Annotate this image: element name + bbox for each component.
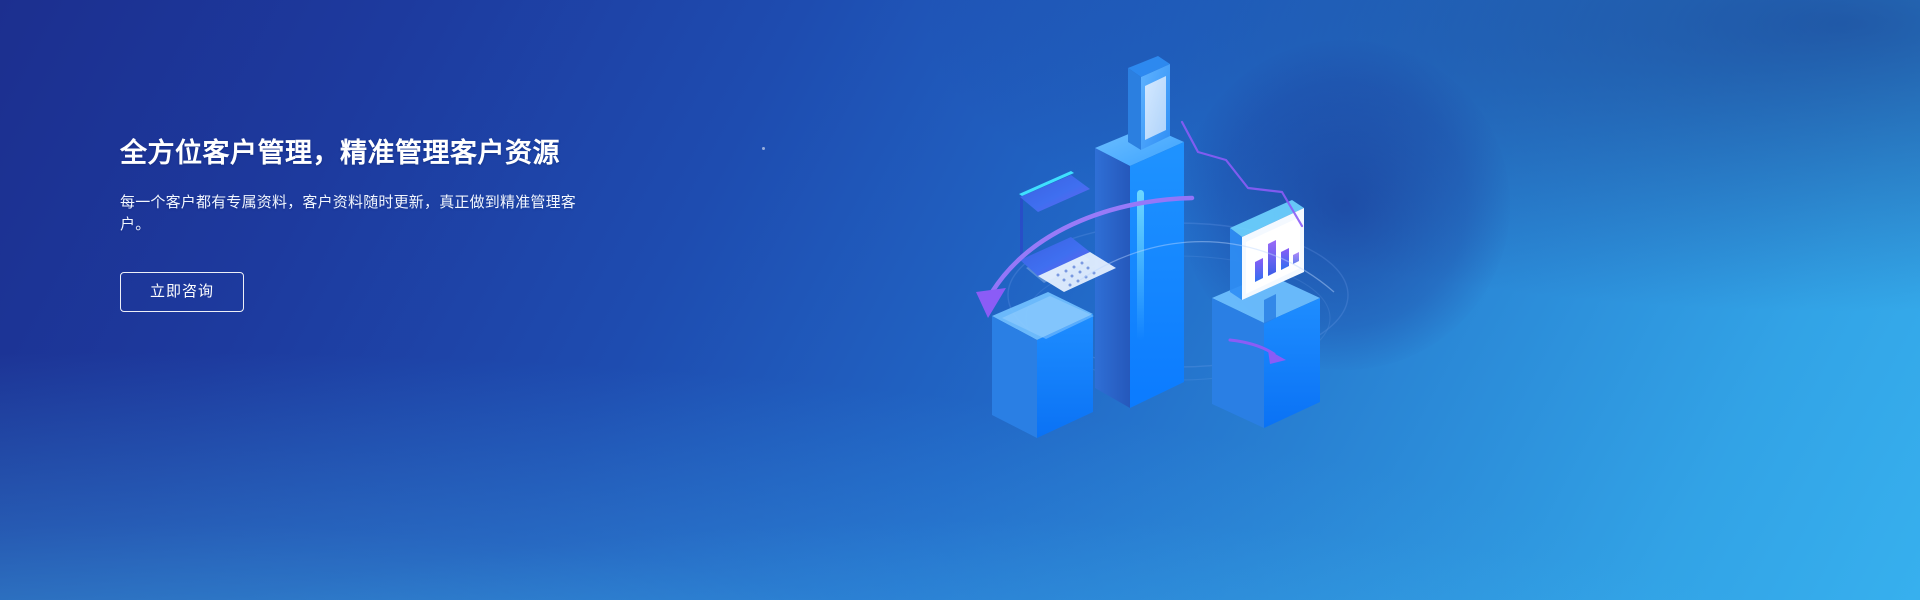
page-title: 全方位客户管理，精准管理客户资源 bbox=[120, 136, 760, 170]
tablet bbox=[1128, 56, 1170, 150]
hero-copy-block: 全方位客户管理，精准管理客户资源 每一个客户都有专属资料，客户资料随时更新，真正… bbox=[120, 136, 760, 312]
hero-illustration bbox=[930, 30, 1410, 480]
hero-description: 每一个客户都有专属资料，客户资料随时更新，真正做到精准管理客户。 bbox=[120, 192, 600, 236]
sparkle-dot bbox=[762, 147, 765, 150]
consult-now-button[interactable]: 立即咨询 bbox=[120, 272, 244, 312]
hero-banner: 全方位客户管理，精准管理客户资源 每一个客户都有专属资料，客户资料随时更新，真正… bbox=[0, 0, 1920, 600]
